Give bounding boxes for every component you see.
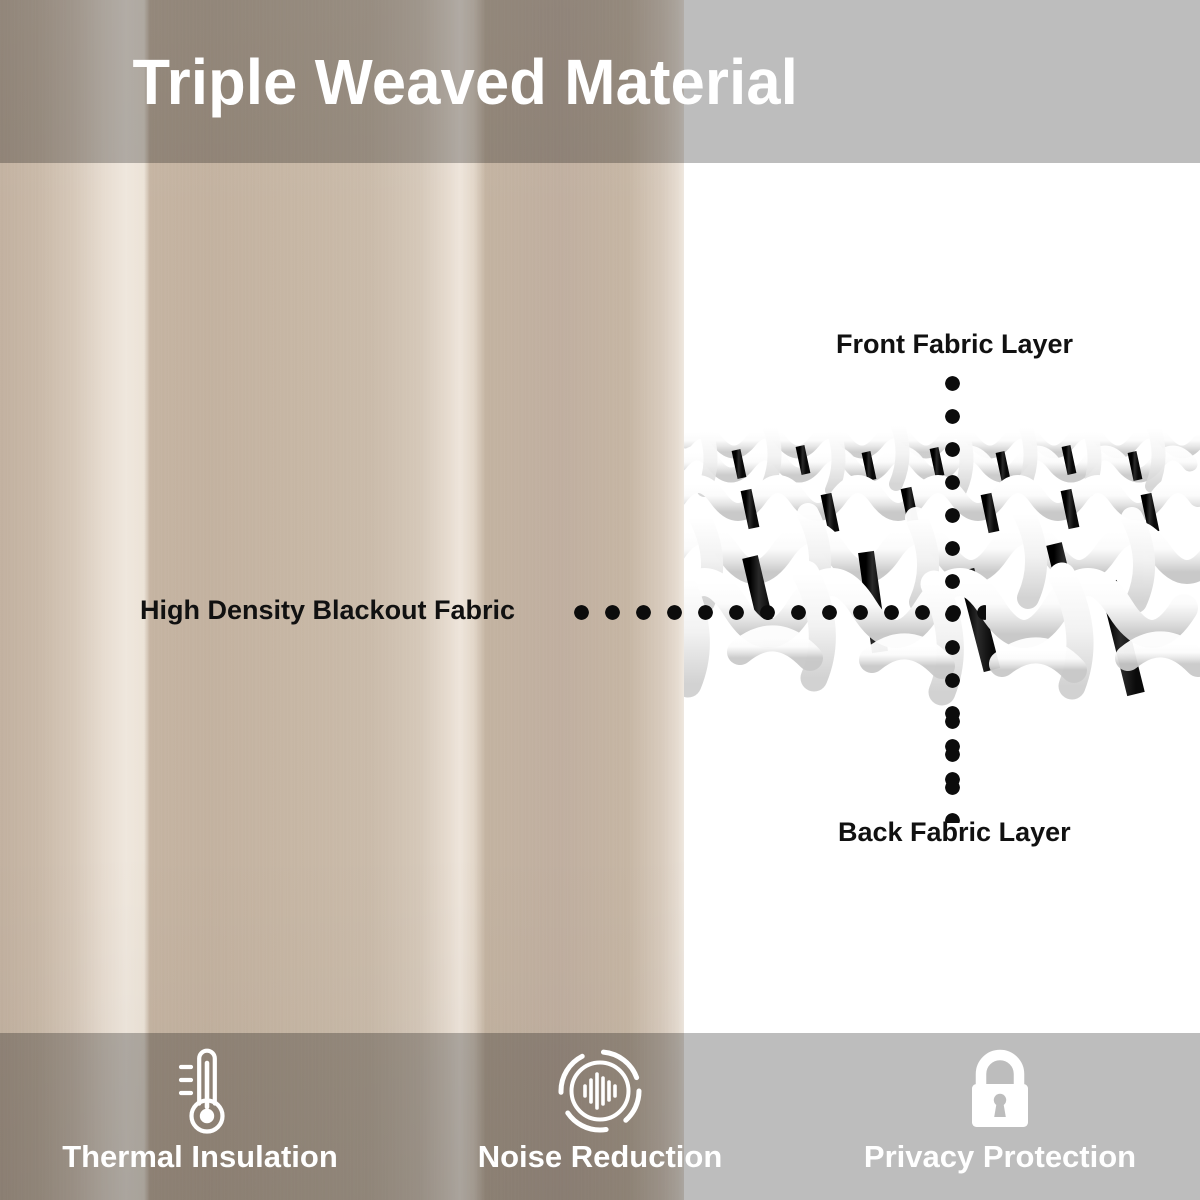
label-front-fabric-layer: Front Fabric Layer: [836, 331, 1073, 358]
feature-thermal-insulation: Thermal Insulation: [0, 1033, 400, 1200]
page-title: Triple Weaved Material: [0, 50, 798, 114]
label-back-fabric-layer: Back Fabric Layer: [838, 819, 1071, 846]
lock-icon: [955, 1045, 1045, 1137]
feature-label-noise-reduction: Noise Reduction: [478, 1141, 723, 1172]
feature-label-thermal-insulation: Thermal Insulation: [62, 1141, 338, 1172]
infographic-canvas: Front Fabric Layer High Density Blackout…: [0, 0, 1200, 1200]
back-layer-leader-line: [945, 705, 960, 823]
label-high-density-blackout-fabric: High Density Blackout Fabric: [140, 597, 515, 624]
triple-weave-illustration: [684, 402, 1200, 762]
feature-label-privacy-protection: Privacy Protection: [864, 1141, 1136, 1172]
feature-banner: Thermal Insulation: [0, 1033, 1200, 1200]
feature-noise-reduction: Noise Reduction: [400, 1033, 800, 1200]
thermometer-icon: [161, 1045, 239, 1137]
feature-privacy-protection: Privacy Protection: [800, 1033, 1200, 1200]
title-banner: Triple Weaved Material: [0, 0, 1200, 163]
sound-wave-icon: [554, 1045, 646, 1137]
blackout-layer-leader-line: [566, 605, 986, 620]
